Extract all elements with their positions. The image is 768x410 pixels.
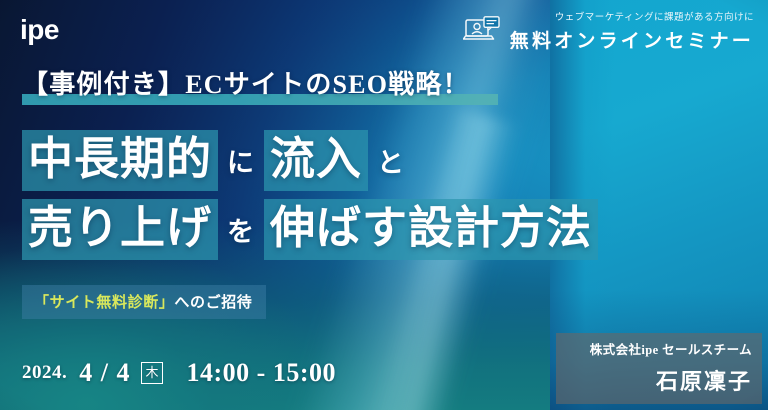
headline-plain: に [218, 141, 264, 180]
presenter-nameplate: 株式会社ipe セールスチーム 石原凜子 [556, 333, 762, 404]
seminar-title: 無料オンラインセミナー [510, 26, 754, 53]
headline-line-1: 中長期的 に 流入 と [22, 130, 598, 191]
laptop-webinar-icon [463, 16, 501, 46]
headline-highlight: 売り上げ [22, 199, 218, 260]
schedule-day-of-week: 木 [141, 362, 162, 384]
schedule-day: 4 / 4 [79, 358, 130, 388]
schedule-row: 2024. 4 / 4 木 14:00 - 15:00 [22, 358, 336, 388]
kicker-text: 【事例付き】ECサイトのSEO戦略！ [22, 64, 470, 101]
kicker-wrapper: 【事例付き】ECサイトのSEO戦略！ [22, 64, 470, 106]
headline-plain: を [218, 210, 264, 249]
headline-highlight: 伸ばす設計方法 [264, 199, 598, 260]
ipe-logo[interactable]: ipe [20, 16, 59, 44]
headline-copy: 中長期的 に 流入 と 売り上げ を 伸ばす設計方法 [22, 130, 598, 260]
seminar-banner: ipe ウェブマーケティングに課題がある方向けに 無料オンラインセミナー 【事例… [0, 0, 768, 410]
headline-highlight: 流入 [264, 130, 368, 191]
free-diagnosis-invite-badge: 「サイト無料診断」 へのご招待 [22, 285, 266, 319]
seminar-subtitle: ウェブマーケティングに課題がある方向けに [555, 9, 754, 23]
headline-plain: と [368, 141, 414, 180]
headline-highlight: 中長期的 [22, 130, 218, 191]
schedule-time: 14:00 - 15:00 [187, 358, 336, 388]
invite-emphasis: 「サイト無料診断」 [34, 291, 174, 312]
seminar-badge: ウェブマーケティングに課題がある方向けに 無料オンラインセミナー [463, 9, 754, 53]
presenter-name: 石原凜子 [566, 364, 752, 396]
invite-rest: へのご招待 [174, 291, 252, 312]
headline-line-2: 売り上げ を 伸ばす設計方法 [22, 199, 598, 260]
presenter-company: 株式会社ipe セールスチーム [566, 339, 752, 358]
schedule-year: 2024. [22, 362, 67, 384]
seminar-badge-texts: ウェブマーケティングに課題がある方向けに 無料オンラインセミナー [510, 9, 754, 53]
